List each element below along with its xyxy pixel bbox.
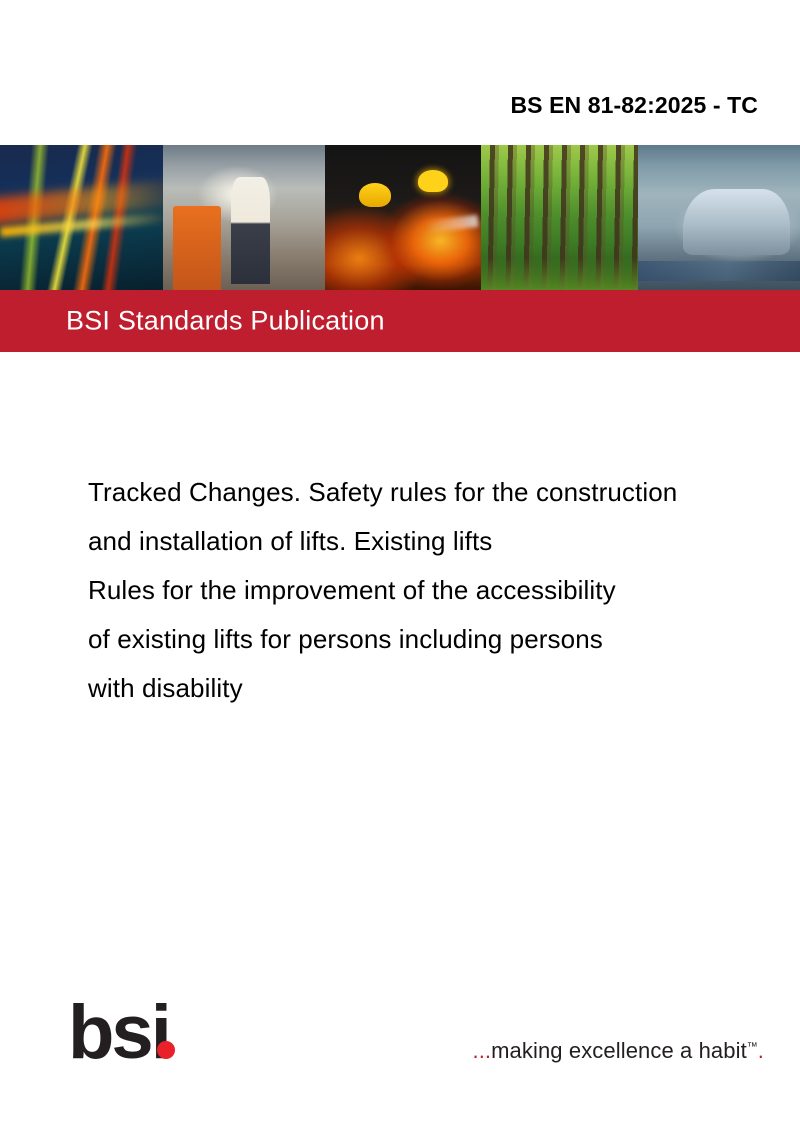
title-line-5: with disability: [88, 664, 800, 713]
photo-panel-light-trails-night-traffic: [0, 145, 163, 290]
publisher-banner: BSI Standards Publication: [0, 290, 800, 352]
bsi-logo-dot: [157, 1041, 175, 1059]
title-line-2: and installation of lifts. Existing lift…: [88, 517, 800, 566]
cover-photo-strip: [0, 145, 800, 290]
tagline: ...making excellence a habit™.: [472, 1038, 764, 1064]
tagline-text: making excellence a habit: [491, 1038, 747, 1063]
photo-panel-warehouse-worker: [163, 145, 325, 290]
tagline-period: .: [758, 1038, 764, 1063]
bsi-logo: bsi: [68, 996, 198, 1070]
photo-panel-car-manufacturing-line: [638, 145, 800, 290]
standard-number: BS EN 81-82:2025 - TC: [510, 92, 758, 119]
page-title: Tracked Changes. Safety rules for the co…: [88, 468, 800, 713]
bsi-logo-mark: bsi: [68, 996, 198, 1070]
tagline-ellipsis: ...: [472, 1038, 491, 1063]
photo-panel-forest-trees: [481, 145, 638, 290]
title-line-3: Rules for the improvement of the accessi…: [88, 566, 800, 615]
publisher-banner-label: BSI Standards Publication: [66, 306, 385, 337]
svg-text:bsi: bsi: [68, 996, 169, 1070]
trademark-symbol: ™: [747, 1041, 758, 1053]
photo-panel-firefighters-flames: [325, 145, 481, 290]
title-line-4: of existing lifts for persons including …: [88, 615, 800, 664]
title-line-1: Tracked Changes. Safety rules for the co…: [88, 468, 800, 517]
